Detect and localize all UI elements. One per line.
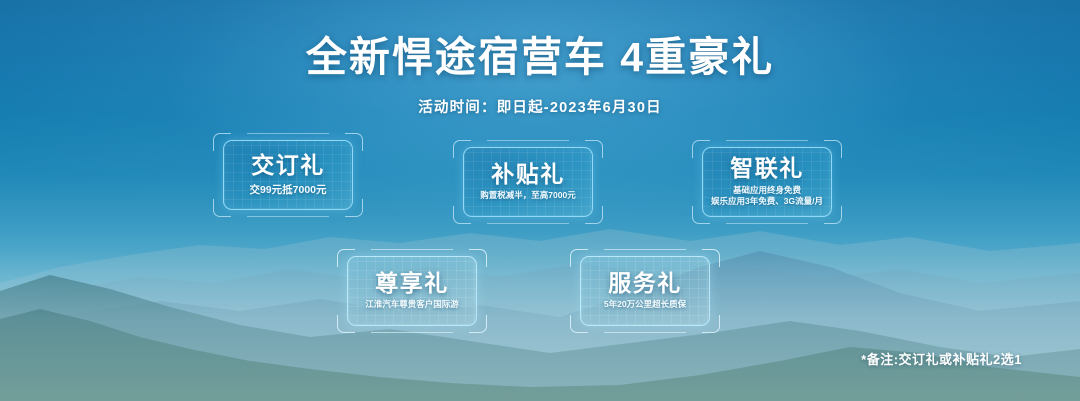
card-privilege-gift[interactable]: 尊享礼 江淮汽车尊贵客户国际游 [337,249,487,333]
banner-title: 全新悍途宿营车 4重豪礼 [0,23,1080,83]
promo-banner: 全新悍途宿营车 4重豪礼 活动时间：即日起-2023年6月30日 交订礼 交99… [0,0,1080,401]
card-deposit-gift[interactable]: 交订礼 交99元抵7000元 [213,133,363,217]
card-description-line: 基础应用终身免费 [711,185,823,196]
card-service-gift[interactable]: 服务礼 5年20万公里超长质保 [570,249,720,333]
card-subsidy-gift[interactable]: 补贴礼 购置税减半，至高7000元 [453,140,603,224]
footnote-text: *备注:交订礼或补贴礼2选1 [861,349,1022,368]
card-panel: 智联礼 基础应用终身免费 娱乐应用3年免费、3G流量/月 [702,147,832,217]
card-description: 购置税减半，至高7000元 [480,190,575,201]
card-panel: 服务礼 5年20万公里超长质保 [580,256,710,326]
card-title: 服务礼 [608,271,682,295]
card-title: 补贴礼 [491,162,565,186]
card-panel: 交订礼 交99元抵7000元 [223,140,353,210]
card-title: 交订礼 [251,153,325,177]
card-description-line: 购置税减半，至高7000元 [480,190,575,201]
card-connectivity-gift[interactable]: 智联礼 基础应用终身免费 娱乐应用3年免费、3G流量/月 [692,140,842,224]
card-title: 智联礼 [730,156,804,180]
card-description-line: 5年20万公里超长质保 [604,299,686,310]
card-description-line: 交99元抵7000元 [249,183,326,197]
card-description: 基础应用终身免费 娱乐应用3年免费、3G流量/月 [711,185,823,208]
banner-header: 全新悍途宿营车 4重豪礼 活动时间：即日起-2023年6月30日 [0,0,1080,117]
card-description: 5年20万公里超长质保 [604,299,686,310]
card-panel: 尊享礼 江淮汽车尊贵客户国际游 [347,256,477,326]
card-description: 江淮汽车尊贵客户国际游 [365,299,459,310]
card-description: 交99元抵7000元 [249,183,326,197]
card-description-line: 江淮汽车尊贵客户国际游 [365,299,459,310]
card-panel: 补贴礼 购置税减半，至高7000元 [463,147,593,217]
card-description-line: 娱乐应用3年免费、3G流量/月 [711,196,823,207]
card-title: 尊享礼 [375,271,449,295]
banner-subtitle: 活动时间：即日起-2023年6月30日 [0,96,1080,117]
